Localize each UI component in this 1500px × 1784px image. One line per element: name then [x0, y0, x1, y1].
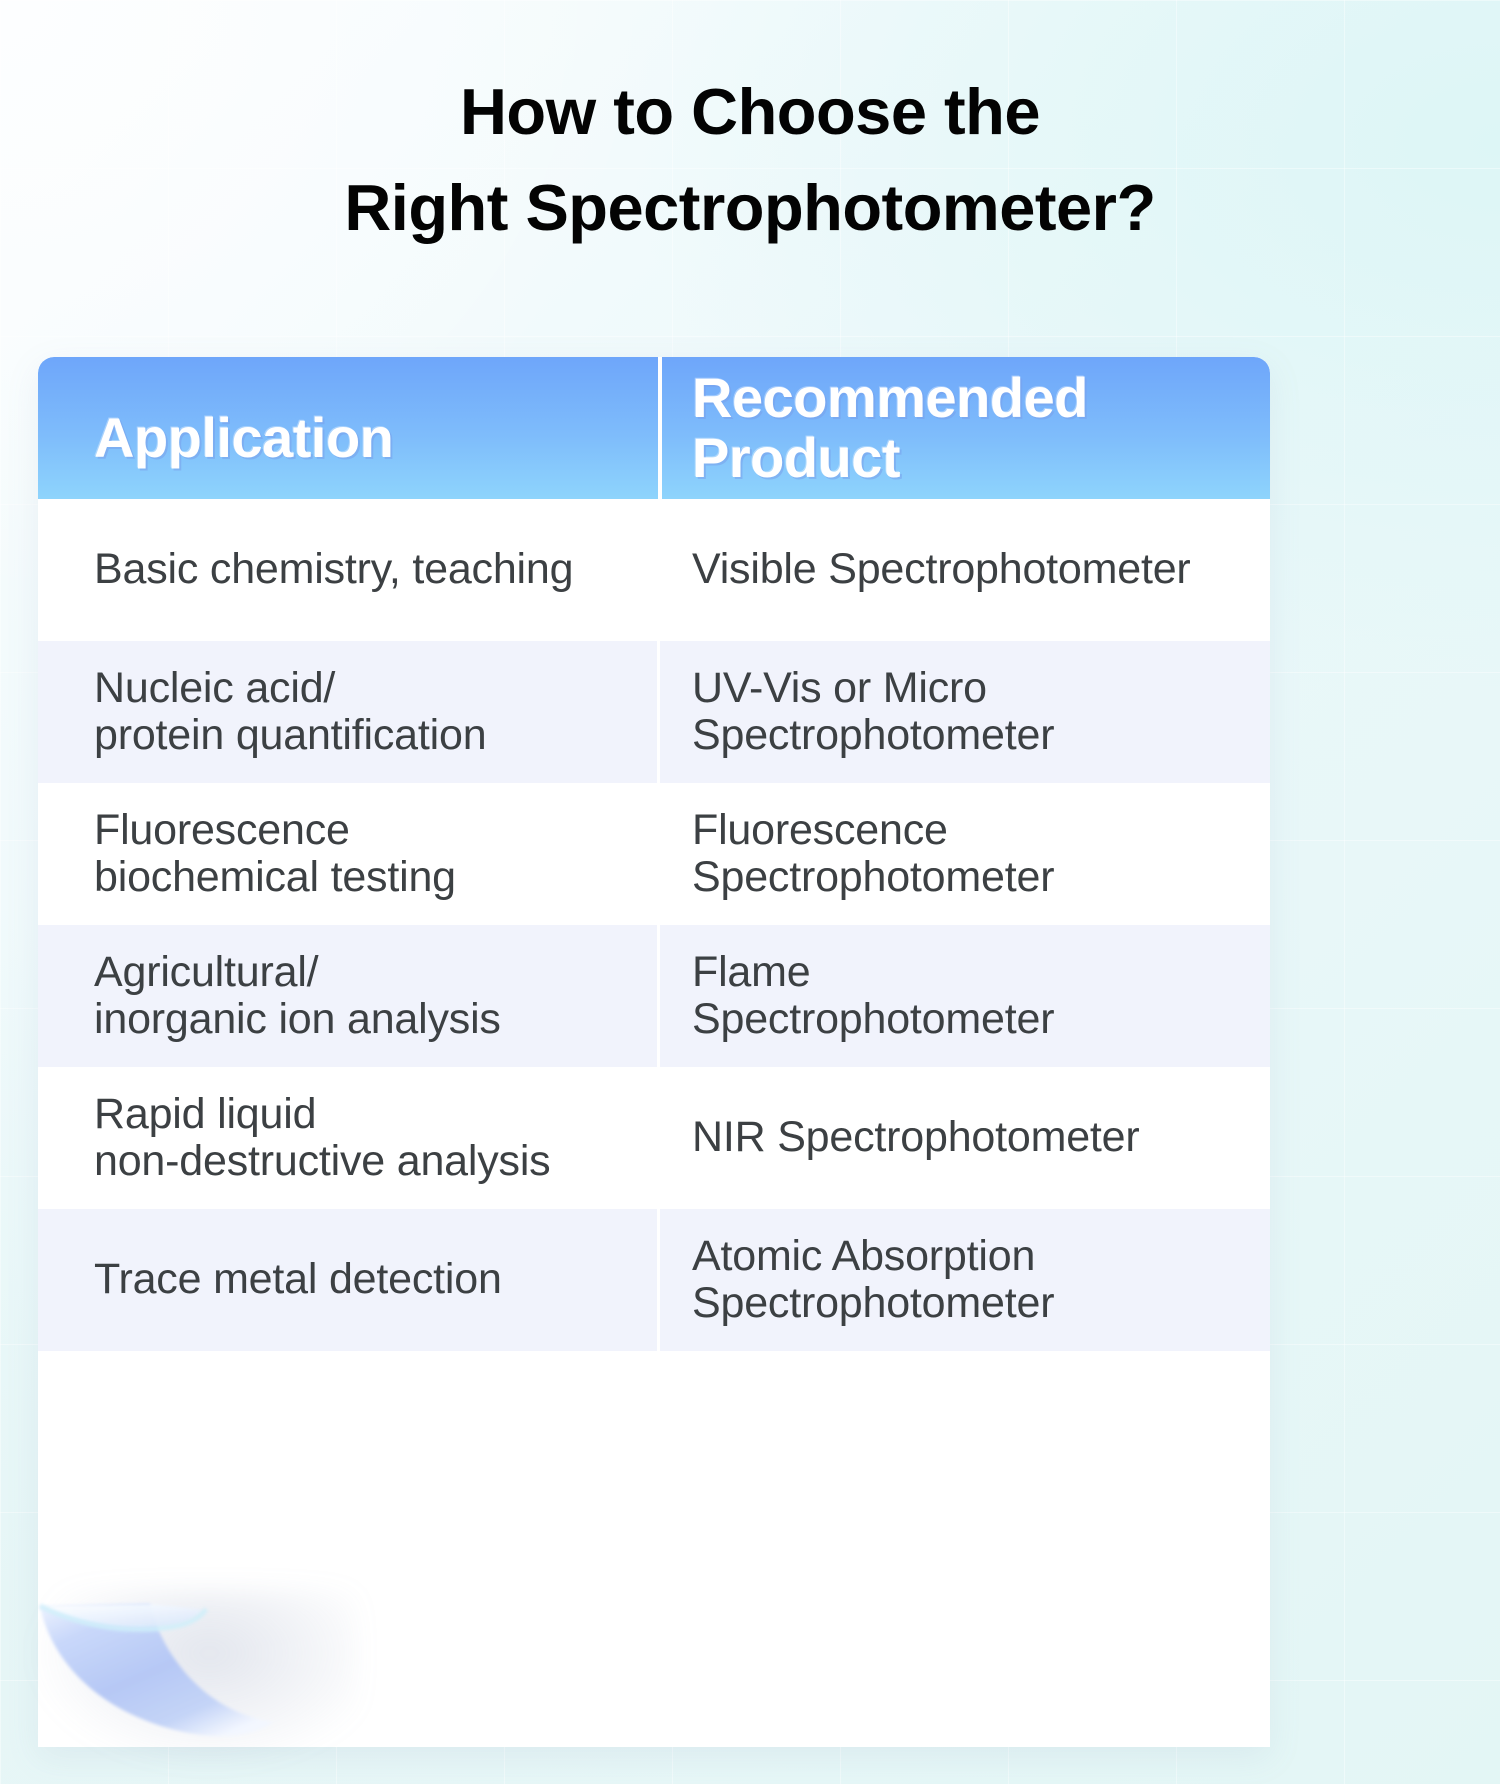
cell-product: NIR Spectrophotometer	[658, 1067, 1270, 1209]
cell-text-product: NIR Spectrophotometer	[692, 1114, 1140, 1161]
cell-text-application: Rapid liquid non-destructive analysis	[94, 1091, 550, 1186]
table-row: Nucleic acid/ protein quantification UV-…	[38, 641, 1270, 783]
cell-text-product: Atomic Absorption Spectrophotometer	[692, 1233, 1054, 1328]
row-column-divider	[657, 1209, 660, 1351]
row-column-divider	[657, 641, 660, 783]
comparison-table-card: Application Recommended Product Basic ch…	[38, 357, 1270, 1747]
cell-text-product: Visible Spectrophotometer	[692, 546, 1191, 593]
cell-application: Agricultural/ inorganic ion analysis	[38, 925, 658, 1067]
cell-product: Atomic Absorption Spectrophotometer	[658, 1209, 1270, 1351]
table-row: Rapid liquid non-destructive analysis NI…	[38, 1067, 1270, 1209]
header-label-application: Application	[94, 408, 393, 468]
cell-product: Fluorescence Spectrophotometer	[658, 783, 1270, 925]
cell-product: Visible Spectrophotometer	[658, 499, 1270, 641]
cell-text-product: Fluorescence Spectrophotometer	[692, 807, 1054, 902]
cell-application: Fluorescence biochemical testing	[38, 783, 658, 925]
table-row: Agricultural/ inorganic ion analysis Fla…	[38, 925, 1270, 1067]
table-row: Fluorescence biochemical testing Fluores…	[38, 783, 1270, 925]
table-header-cell-product: Recommended Product	[658, 357, 1270, 499]
cell-text-product: Flame Spectrophotometer	[692, 949, 1054, 1044]
header-label-product: Recommended Product	[692, 368, 1270, 489]
cell-product: UV-Vis or Micro Spectrophotometer	[658, 641, 1270, 783]
table-header-row: Application Recommended Product	[38, 357, 1270, 499]
title-line-2: Right Spectrophotometer?	[0, 160, 1500, 256]
table-footer-spacer	[38, 1351, 1270, 1501]
cell-application: Trace metal detection	[38, 1209, 658, 1351]
cell-application: Basic chemistry, teaching	[38, 499, 658, 641]
cell-text-application: Agricultural/ inorganic ion analysis	[94, 949, 501, 1044]
cell-product: Flame Spectrophotometer	[658, 925, 1270, 1067]
cell-text-application: Trace metal detection	[94, 1256, 502, 1303]
title-line-1: How to Choose the	[0, 64, 1500, 160]
cell-application: Nucleic acid/ protein quantification	[38, 641, 658, 783]
row-column-divider	[657, 925, 660, 1067]
cell-text-product: UV-Vis or Micro Spectrophotometer	[692, 665, 1054, 760]
table-row: Trace metal detection Atomic Absorption …	[38, 1209, 1270, 1351]
cell-text-application: Nucleic acid/ protein quantification	[94, 665, 486, 760]
cell-text-application: Basic chemistry, teaching	[94, 546, 573, 593]
page-title: How to Choose the Right Spectrophotomete…	[0, 64, 1500, 256]
cell-text-application: Fluorescence biochemical testing	[94, 807, 456, 902]
cell-application: Rapid liquid non-destructive analysis	[38, 1067, 658, 1209]
table-row: Basic chemistry, teaching Visible Spectr…	[38, 499, 1270, 641]
table-header-cell-application: Application	[38, 357, 658, 499]
